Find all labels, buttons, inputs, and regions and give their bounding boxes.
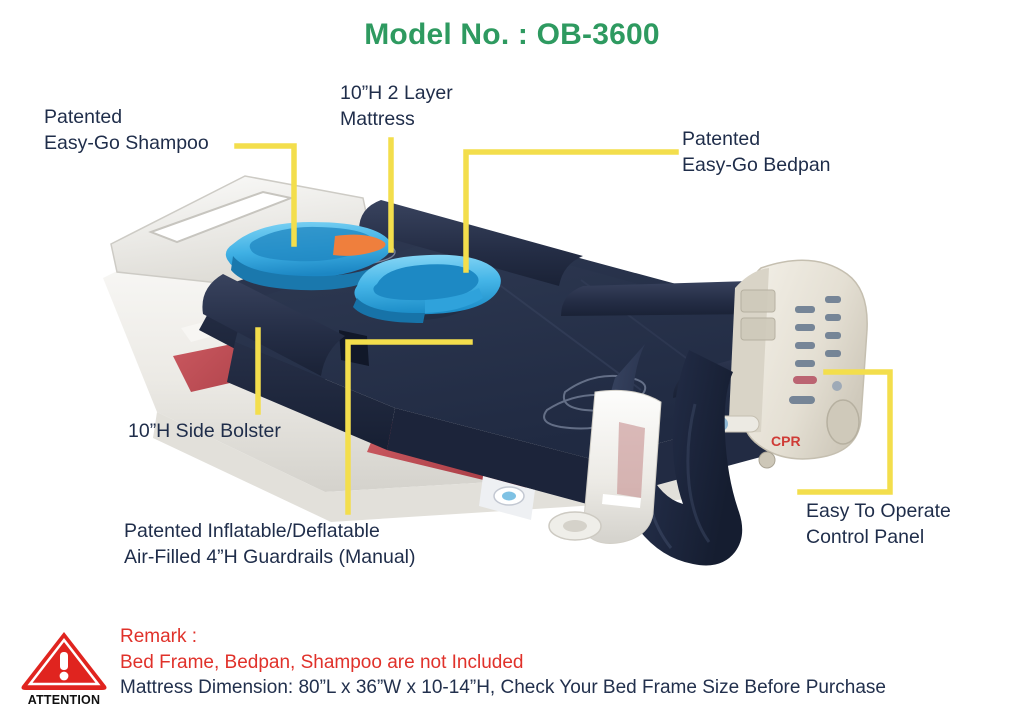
callout-label-side-bolster: 10”H Side Bolster: [128, 418, 281, 444]
remark-exclusions: Bed Frame, Bedpan, Shampoo are not Inclu…: [120, 650, 1018, 676]
remark-footer: ATTENTION Remark : Bed Frame, Bedpan, Sh…: [0, 618, 1024, 710]
callout-label-mattress: 10”H 2 Layer Mattress: [340, 80, 453, 132]
attention-badge: ATTENTION: [14, 628, 114, 707]
bed-caster: [549, 512, 601, 540]
product-diagram: Model No. : OB-3600: [0, 0, 1024, 724]
attention-label: ATTENTION: [14, 693, 114, 707]
callout-label-shampoo: Patented Easy-Go Shampoo: [44, 104, 209, 156]
remark-text-block: Remark : Bed Frame, Bedpan, Shampoo are …: [120, 624, 1018, 701]
cpr-label: CPR: [771, 433, 801, 449]
panel-vent: [827, 400, 859, 444]
page-title: Model No. : OB-3600: [0, 18, 1024, 52]
callout-label-control-panel: Easy To Operate Control Panel: [806, 498, 951, 550]
remark-heading: Remark :: [120, 624, 1018, 650]
warning-triangle-icon: [18, 628, 110, 690]
callout-label-guardrails: Patented Inflatable/Deflatable Air-Fille…: [124, 518, 416, 570]
remark-dimensions: Mattress Dimension: 80”L x 36”W x 10-14”…: [120, 675, 1018, 701]
callout-label-bedpan: Patented Easy-Go Bedpan: [682, 126, 831, 178]
